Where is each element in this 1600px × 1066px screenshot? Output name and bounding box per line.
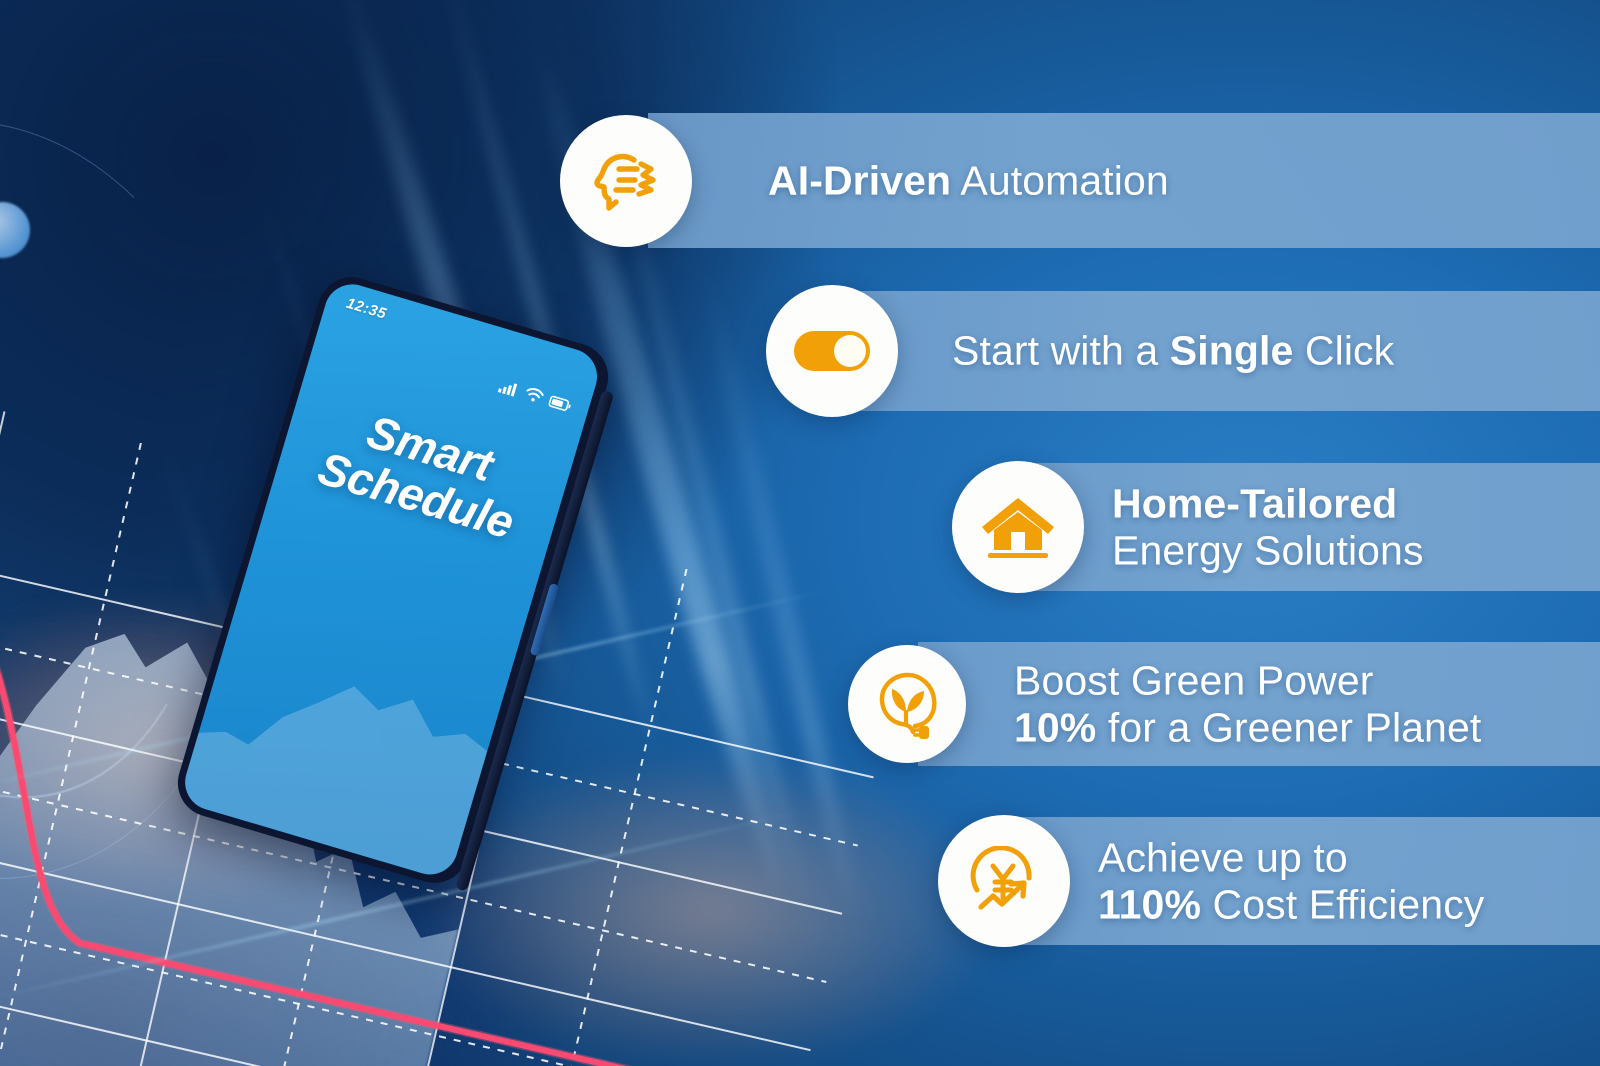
feature-label-bold: AI-Driven: [768, 157, 951, 203]
feature-label-bold: Single: [1170, 328, 1294, 374]
feature-row-ai-driven-automation[interactable]: AI-Driven Automation: [560, 113, 1600, 248]
feature-label-bold: Home-Tailored: [1112, 480, 1397, 526]
feature-list: AI-Driven Automation Start with a Single…: [0, 0, 1600, 1066]
feature-row-cost-efficiency[interactable]: Achieve up to 110% Cost Efficiency: [938, 817, 1600, 945]
feature-label-light: Boost Green Power: [1014, 657, 1374, 703]
feature-icon-badge[interactable]: [952, 461, 1084, 593]
feature-label-bold: 10%: [1014, 704, 1096, 750]
feature-label: Home-Tailored Energy Solutions: [1112, 480, 1424, 573]
toggle-switch-on-icon: [792, 327, 872, 375]
feature-label-light: Automation: [951, 157, 1169, 203]
feature-label: Start with a Single Click: [952, 328, 1394, 375]
feature-row-home-tailored-energy[interactable]: Home-Tailored Energy Solutions: [952, 463, 1600, 591]
plant-plug-icon: [872, 668, 942, 740]
feature-label-bold: 110%: [1098, 881, 1201, 927]
feature-label: Achieve up to 110% Cost Efficiency: [1098, 834, 1484, 927]
feature-label: Boost Green Power 10% for a Greener Plan…: [1014, 657, 1481, 750]
infographic-canvas: 12:35: [0, 0, 1600, 1066]
house-icon: [980, 494, 1056, 560]
feature-icon-badge[interactable]: [560, 115, 692, 247]
feature-label-light-end: Click: [1293, 328, 1394, 374]
ai-head-icon: [589, 147, 663, 215]
feature-label: AI-Driven Automation: [768, 157, 1169, 204]
feature-row-single-click[interactable]: Start with a Single Click: [766, 291, 1600, 411]
feature-row-boost-green-power[interactable]: Boost Green Power 10% for a Greener Plan…: [848, 642, 1600, 766]
feature-icon-badge[interactable]: [766, 285, 898, 417]
feature-label-light: Energy Solutions: [1112, 527, 1424, 573]
feature-icon-badge[interactable]: [848, 645, 966, 763]
feature-label-light-end: for a Greener Planet: [1096, 704, 1481, 750]
yen-growth-icon: [967, 846, 1041, 916]
feature-icon-badge[interactable]: [938, 815, 1070, 947]
feature-label-light: Achieve up to: [1098, 834, 1348, 880]
feature-label-light-end: Cost Efficiency: [1201, 881, 1484, 927]
feature-label-light: Start with a: [952, 328, 1170, 374]
